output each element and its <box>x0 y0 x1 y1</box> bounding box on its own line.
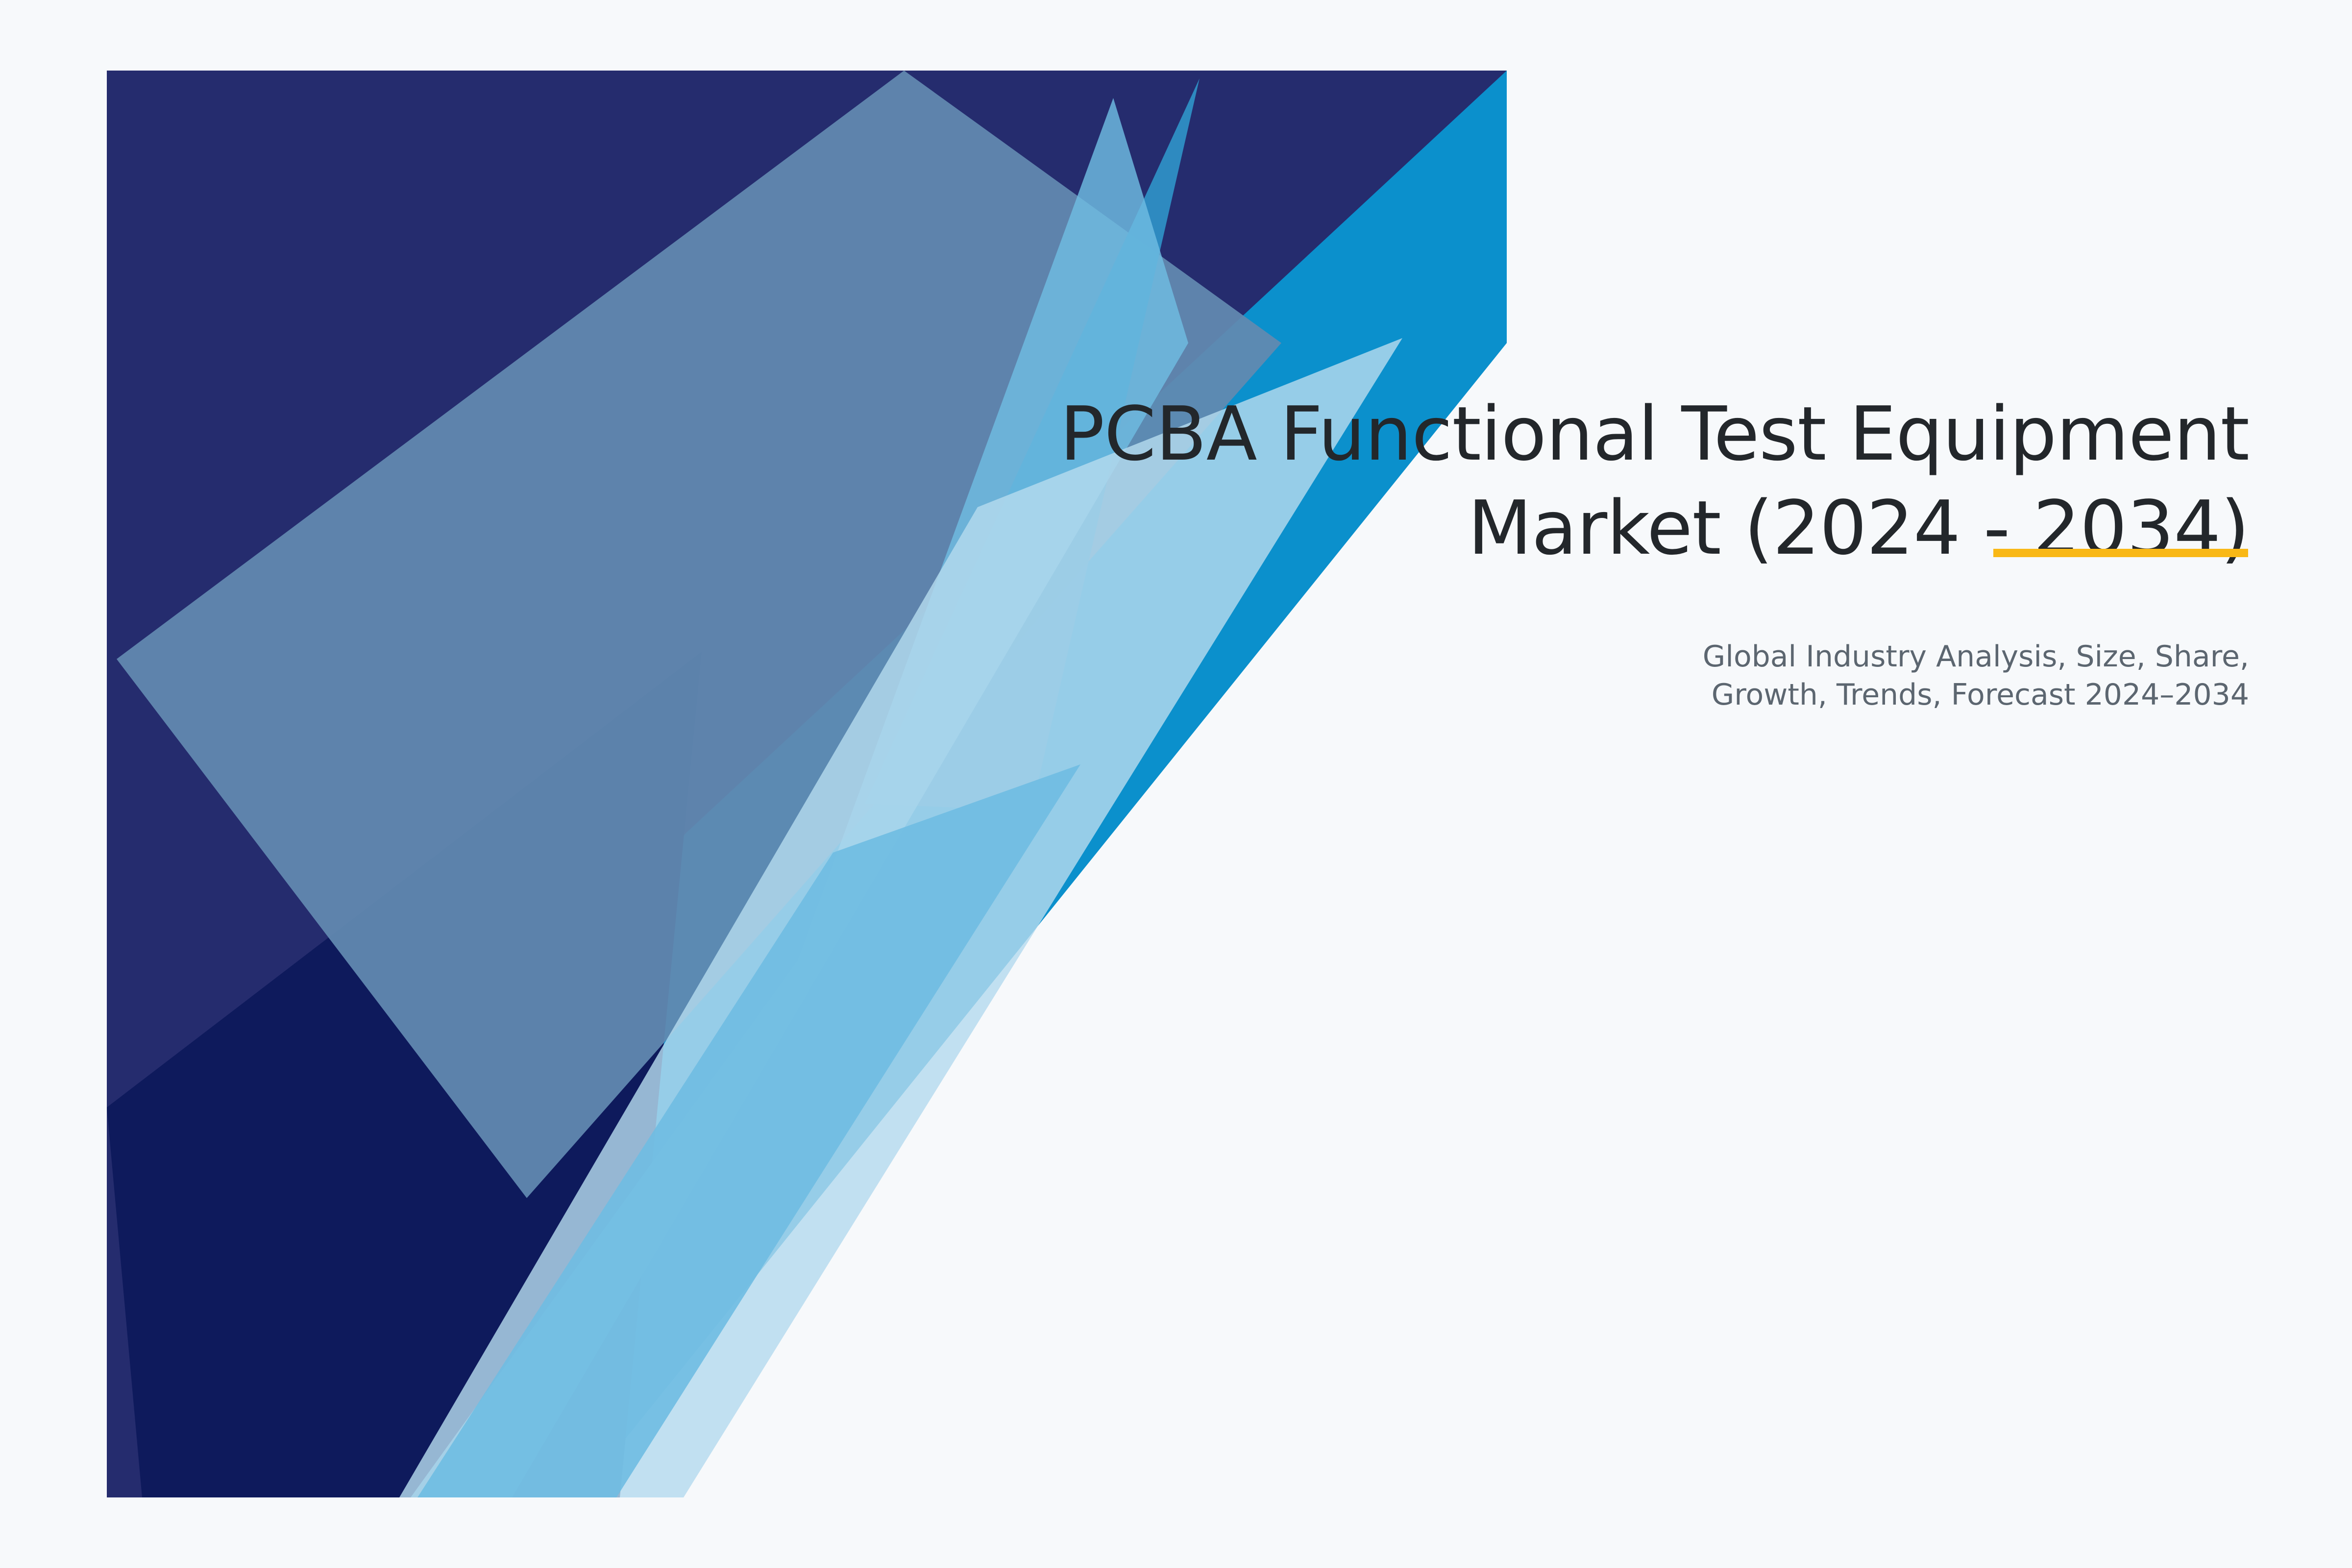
cover-text-block: PCBA Functional Test Equipment Market (2… <box>931 387 2249 714</box>
abstract-geometric-polygon-banner <box>0 0 2352 1568</box>
page-subtitle: Global Industry Analysis, Size, Share, G… <box>931 637 2249 714</box>
report-cover-page: PCBA Functional Test Equipment Market (2… <box>0 0 2352 1568</box>
page-title: PCBA Functional Test Equipment Market (2… <box>931 387 2249 575</box>
title-wrapper: PCBA Functional Test Equipment Market (2… <box>931 387 2249 575</box>
